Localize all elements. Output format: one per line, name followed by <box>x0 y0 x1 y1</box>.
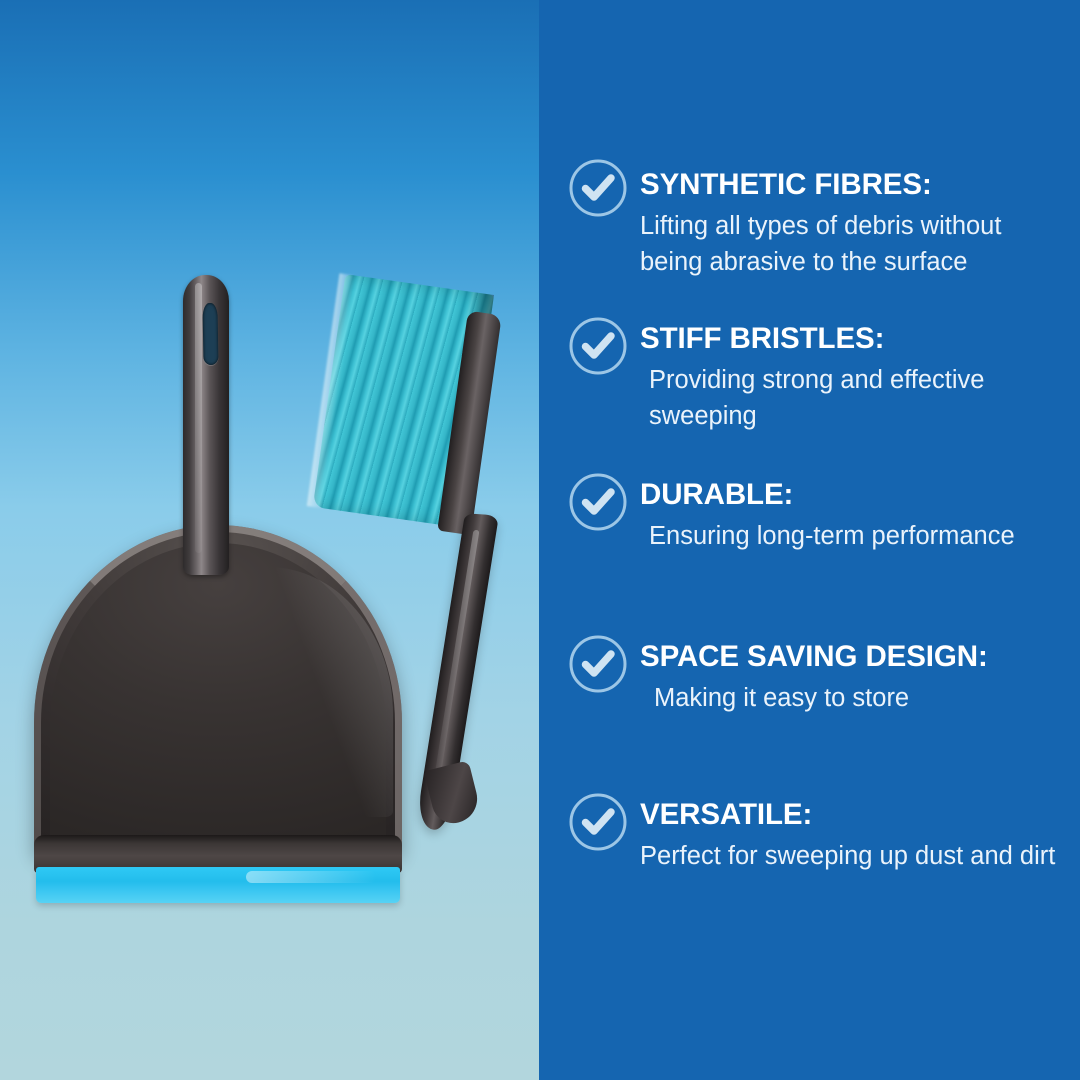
hand-brush-product <box>332 295 537 830</box>
feature-text-block: SYNTHETIC FIBRES:Lifting all types of de… <box>640 158 1070 280</box>
check-circle-icon <box>568 158 628 218</box>
check-circle-icon <box>568 792 628 852</box>
check-circle-icon <box>568 472 628 532</box>
feature-text-block: SPACE SAVING DESIGN:Making it easy to st… <box>640 634 1070 716</box>
feature-title: DURABLE: <box>640 478 1070 512</box>
product-image-panel <box>0 0 539 1080</box>
feature-title: STIFF BRISTLES: <box>640 322 1070 356</box>
check-circle-icon <box>568 316 628 376</box>
feature-description: Perfect for sweeping up dust and dirt <box>640 838 1070 874</box>
feature-description: Lifting all types of debris without bein… <box>640 208 1070 280</box>
feature-description: Making it easy to store <box>654 680 1070 716</box>
check-circle-icon <box>568 634 628 694</box>
feature-text-block: STIFF BRISTLES:Providing strong and effe… <box>640 316 1070 434</box>
feature-description: Ensuring long-term performance <box>649 518 1070 554</box>
feature-text-block: DURABLE:Ensuring long-term performance <box>640 472 1070 554</box>
dustpan-rubber-lip <box>36 867 400 903</box>
feature-title: SYNTHETIC FIBRES: <box>640 168 1070 202</box>
feature-text-block: VERSATILE:Perfect for sweeping up dust a… <box>640 792 1070 874</box>
feature-description: Providing strong and effective sweeping <box>649 362 1070 434</box>
product-infographic: SYNTHETIC FIBRES:Lifting all types of de… <box>0 0 1080 1080</box>
feature-title: SPACE SAVING DESIGN: <box>640 640 1070 674</box>
dustpan-hang-hole <box>202 303 218 365</box>
feature-list-panel: SYNTHETIC FIBRES:Lifting all types of de… <box>539 0 1080 1080</box>
feature-title: VERSATILE: <box>640 798 1070 832</box>
